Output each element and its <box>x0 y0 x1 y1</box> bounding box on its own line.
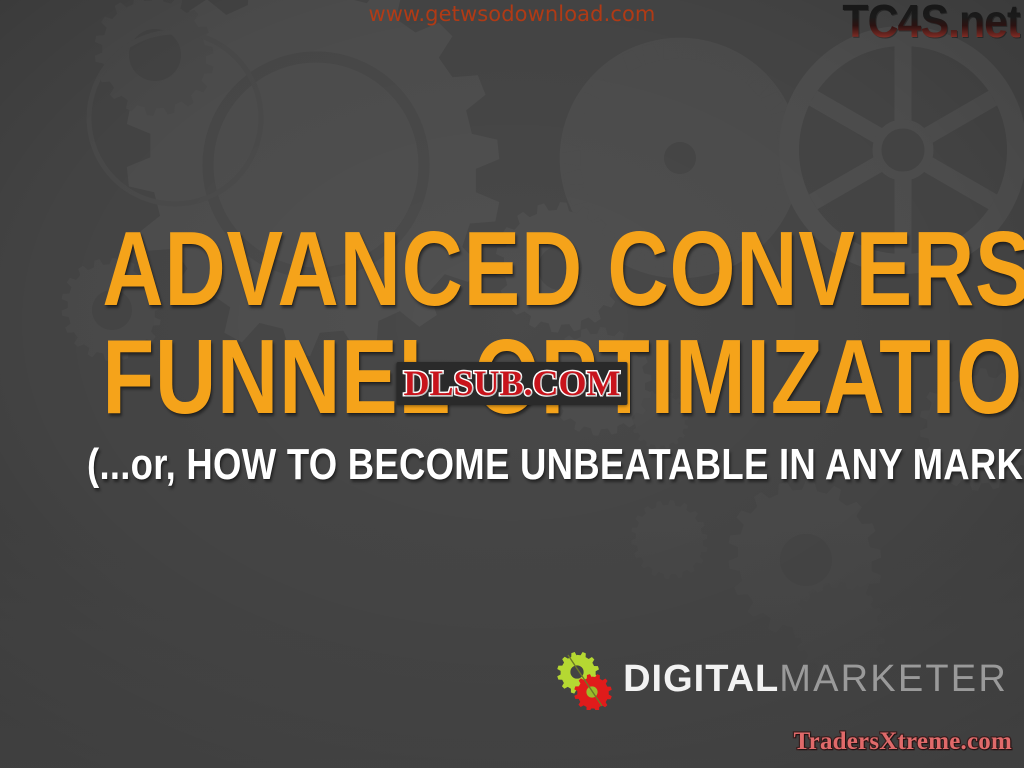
watermark-tc4s-logo: TC4S.net <box>842 0 1020 44</box>
watermark-dlsub-text: DLSUB.COM <box>403 365 620 401</box>
slide-subtitle: (...or, HOW TO BECOME UNBEATABLE IN ANY … <box>87 442 937 488</box>
brand-word-secondary: MARKETER <box>779 658 1008 700</box>
watermark-dlsub-badge: DLSUB.COM <box>396 362 627 405</box>
brand-word-primary: DIGITAL <box>623 658 779 700</box>
digitalmarketer-wordmark: DIGITALMARKETER <box>623 660 1008 698</box>
digitalmarketer-logo: DIGITALMARKETER <box>555 648 1008 710</box>
watermark-tradersxtreme: TradersXtreme.com <box>794 729 1012 754</box>
slide-headline-block: ADVANCED CONVERSION FUNNEL OPTIMIZATION … <box>0 218 1024 488</box>
slide-title-line-1: ADVANCED CONVERSION <box>102 218 921 322</box>
presentation-slide: www.getwsodownload.com TC4S.net ADVANCED… <box>0 0 1024 768</box>
gears-icon <box>555 648 617 710</box>
